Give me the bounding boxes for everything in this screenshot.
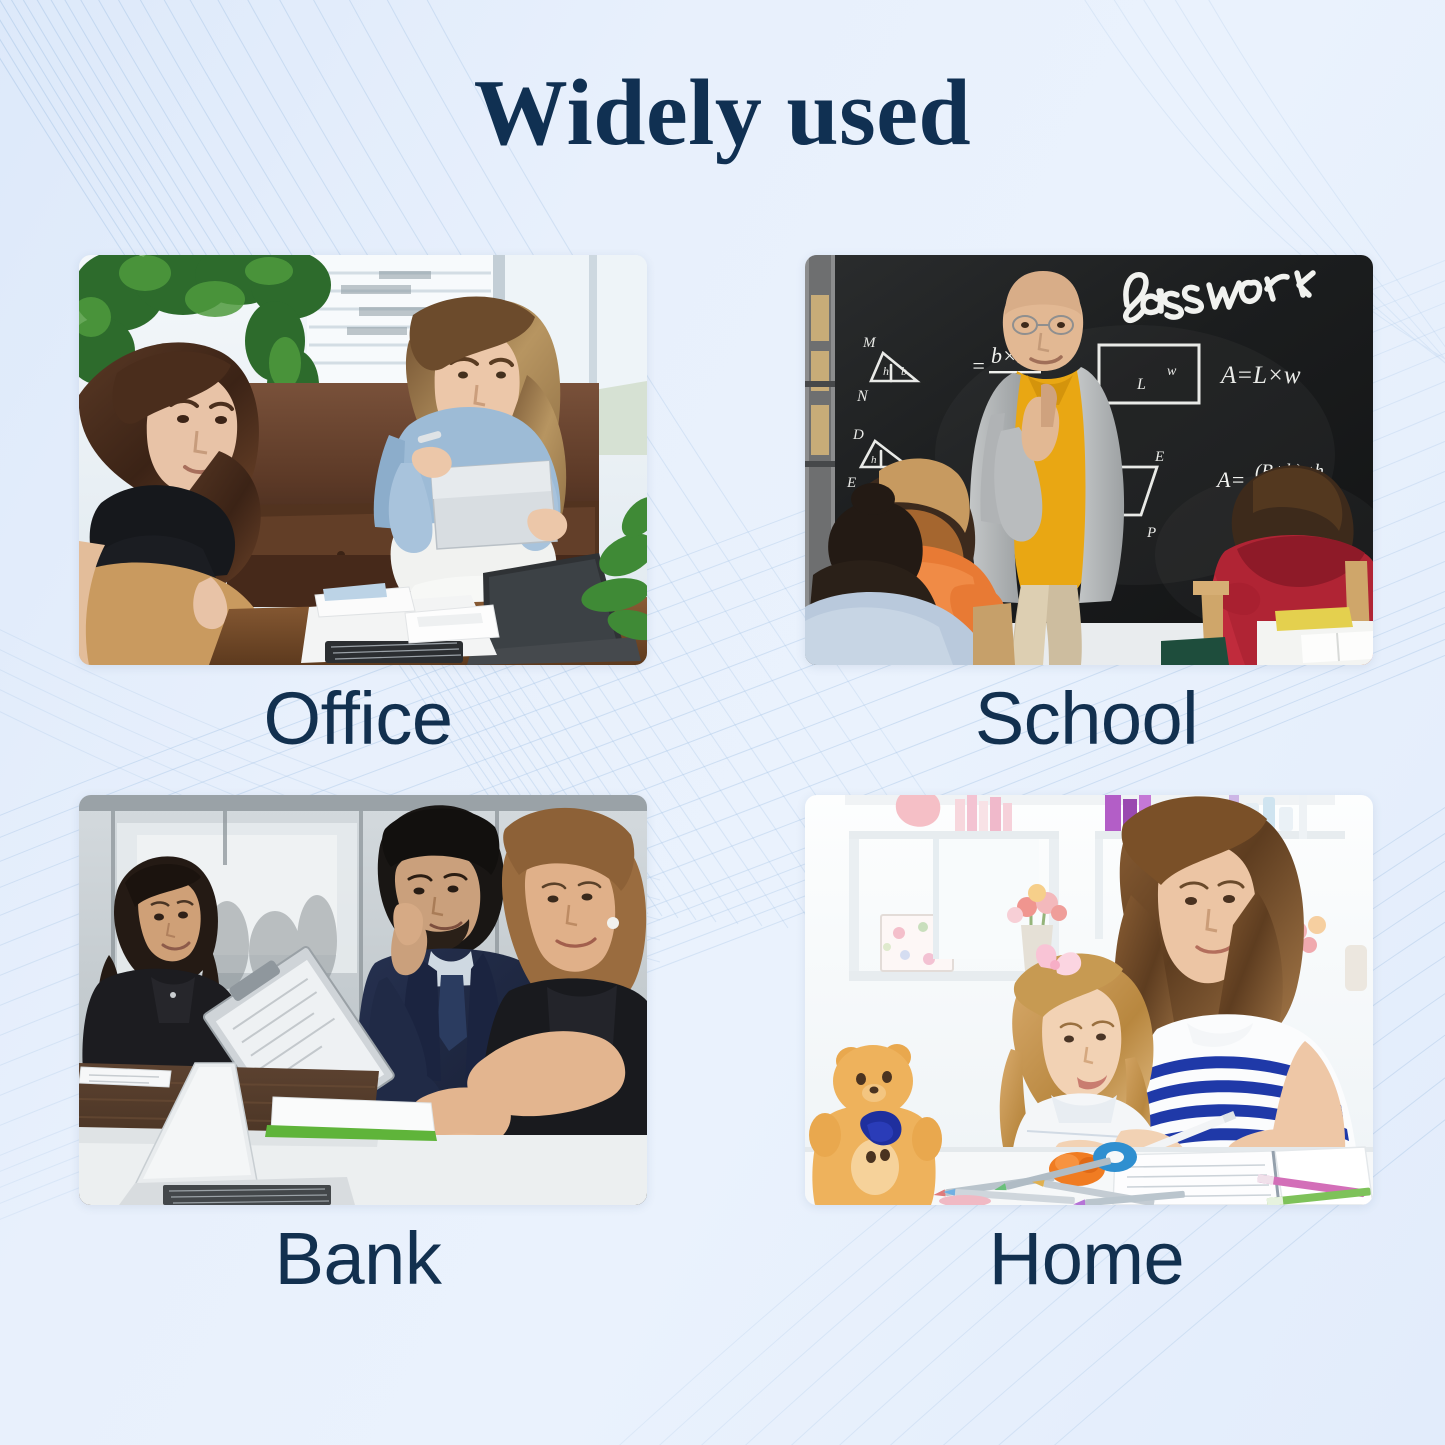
bank-photo-frame (79, 795, 647, 1205)
svg-text:E: E (1154, 449, 1164, 465)
svg-text:E: E (846, 475, 856, 491)
svg-text:A=L×w: A=L×w (1219, 362, 1301, 389)
use-case-card-office: Office (0, 255, 722, 795)
bank-photo (79, 795, 647, 1205)
bank-caption: Bank (275, 1219, 442, 1299)
home-photo-frame (805, 795, 1373, 1205)
svg-text:h: h (883, 364, 889, 378)
school-caption: School (975, 679, 1198, 759)
office-photo (79, 255, 647, 665)
school-photo-frame: M h b N = b×h 2 L (805, 255, 1373, 665)
home-photo (805, 795, 1373, 1205)
svg-text:h: h (871, 454, 877, 466)
use-case-grid: Office (0, 255, 1445, 1425)
use-case-card-school: M h b N = b×h 2 L (722, 255, 1445, 795)
office-photo-frame (79, 255, 647, 665)
page-title: Widely used (0, 62, 1445, 165)
svg-text:M: M (862, 335, 877, 351)
svg-text:b: b (901, 364, 907, 378)
svg-text:D: D (852, 427, 864, 443)
svg-text:=: = (971, 353, 986, 378)
svg-text:w: w (1167, 364, 1177, 379)
office-caption: Office (264, 679, 453, 759)
use-case-card-home: Home (722, 795, 1445, 1335)
use-case-card-bank: Bank (0, 795, 722, 1335)
svg-text:N: N (856, 388, 869, 405)
svg-text:P: P (1146, 525, 1156, 541)
svg-text:A=: A= (1215, 467, 1245, 492)
school-photo: M h b N = b×h 2 L (805, 255, 1373, 665)
home-caption: Home (989, 1219, 1184, 1299)
svg-text:L: L (1136, 376, 1146, 393)
